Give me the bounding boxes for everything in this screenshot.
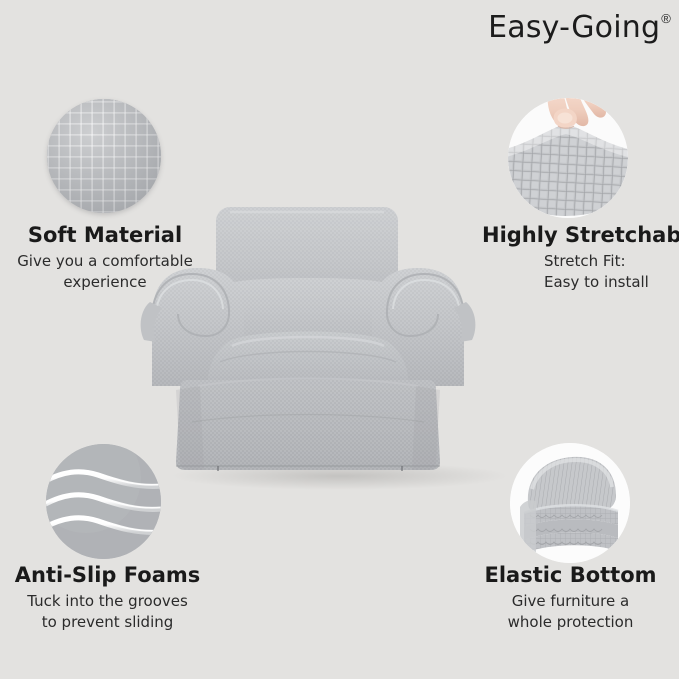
feature-subtitle: Tuck into the grooves to prevent sliding — [0, 591, 215, 633]
feature-subtitle-line-2: Easy to install — [544, 272, 679, 293]
brand-logo: Easy-Going® — [455, 10, 670, 54]
chair-base — [176, 379, 440, 472]
brand-name: Easy-Going — [488, 10, 660, 45]
feature-title: Anti-Slip Foams — [0, 562, 215, 588]
feature-title: Elastic Bottom — [462, 562, 679, 588]
feature-elastic-bottom: Elastic Bottom Give furniture a whole pr… — [462, 562, 679, 633]
feature-anti-slip-foams: Anti-Slip Foams Tuck into the grooves to… — [0, 562, 215, 633]
chair-seat — [208, 332, 408, 381]
feature-subtitle-line-2: to prevent sliding — [0, 612, 215, 633]
feature-subtitle-line-1: Give furniture a — [462, 591, 679, 612]
feature-subtitle-line-1: Tuck into the grooves — [0, 591, 215, 612]
feature-subtitle-line-2: whole protection — [462, 612, 679, 633]
feature-subtitle: Give furniture a whole protection — [462, 591, 679, 633]
registered-trademark-icon: ® — [661, 11, 671, 26]
feature-subtitle-line-1: Stretch Fit: — [544, 251, 679, 272]
product-feature-infographic: Easy-Going® Soft Material Give you a com… — [0, 0, 679, 679]
product-image-chair-slipcover — [140, 190, 540, 490]
